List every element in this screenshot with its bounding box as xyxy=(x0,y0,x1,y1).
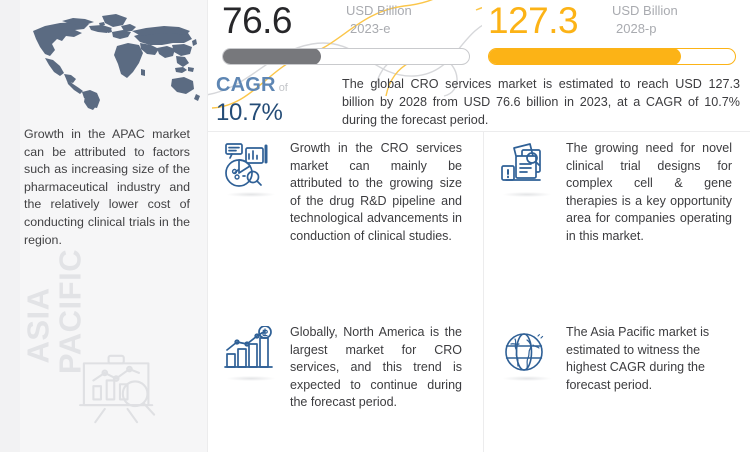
stat-2028-value: 127.3 xyxy=(488,0,578,44)
progress-bar-gray xyxy=(222,48,470,65)
left-panel: Growth in the APAC market can be attribu… xyxy=(0,0,208,452)
card-clinical-trial-design-text: The growing need for novel clinical tria… xyxy=(566,140,732,246)
progress-bar-amber-fill xyxy=(488,48,681,65)
cagr-label: CAGR xyxy=(216,74,276,96)
stat-2023-unit-label: USD Billion xyxy=(346,3,412,18)
progress-bar-gray-fill xyxy=(222,48,321,65)
right-content: 76.6 USD Billion 2023-e 127.3 USD Billio… xyxy=(208,0,750,452)
progress-bar-amber xyxy=(488,48,736,65)
stat-2023-value: 76.6 xyxy=(222,0,292,44)
card-asia-pacific-text: The Asia Pacific market is estimated to … xyxy=(566,324,726,394)
stat-2028-unit-label: USD Billion xyxy=(612,3,678,18)
bar-chart-growth-dollar-icon xyxy=(224,326,278,376)
stat-2028-year: 2028-p xyxy=(612,20,732,38)
cagr-block: CAGRof 10.7% xyxy=(216,74,336,126)
stats-row: 76.6 USD Billion 2023-e 127.3 USD Billio… xyxy=(208,0,750,72)
cagr-value: 10.7% xyxy=(216,99,336,126)
globe-icon xyxy=(500,326,554,376)
card-north-america-text: Globally, North America is the largest m… xyxy=(290,324,462,412)
cagr-row: CAGRof 10.7% The global CRO services mar… xyxy=(208,74,750,131)
stat-2028: 127.3 USD Billion 2028-p xyxy=(482,0,742,72)
divider-horizontal-top xyxy=(208,131,750,132)
stat-2023-unit: USD Billion 2023-e xyxy=(346,2,466,38)
cagr-of: of xyxy=(276,82,288,94)
clinical-documents-alert-icon xyxy=(500,142,554,192)
world-map-icon xyxy=(14,8,200,112)
pie-chart-analytics-magnifier-icon xyxy=(224,142,278,192)
left-panel-paragraph: Growth in the APAC market can be attribu… xyxy=(24,126,190,249)
card-cro-growth-text: Growth in the CRO services market can ma… xyxy=(290,140,462,246)
stat-2023: 76.6 USD Billion 2023-e xyxy=(216,0,476,72)
market-summary-text: The global CRO services market is estima… xyxy=(342,76,740,129)
stat-2023-year: 2023-e xyxy=(346,20,466,38)
watermark-asia: ASIA xyxy=(23,246,54,406)
stat-2028-unit: USD Billion 2028-p xyxy=(612,2,732,38)
infographic-canvas: Growth in the APAC market can be attribu… xyxy=(0,0,750,452)
cagr-label-line: CAGRof xyxy=(216,74,336,99)
divider-vertical-center xyxy=(483,132,484,452)
presentation-chart-magnifier-icon xyxy=(76,352,162,426)
